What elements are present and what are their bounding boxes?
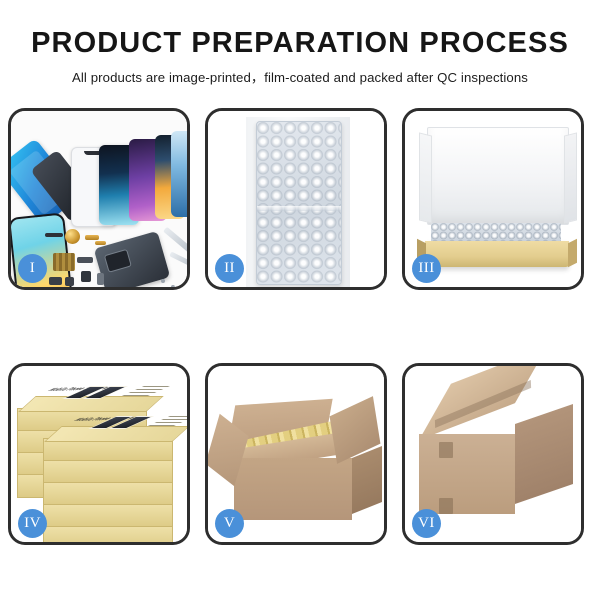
page-title: PRODUCT PREPARATION PROCESS — [0, 28, 600, 58]
box-top-face: Mobile Phone Spare Parts — [18, 396, 164, 412]
carton-side-icon — [515, 404, 573, 504]
product-box — [43, 526, 173, 542]
small-part-icon — [65, 277, 74, 286]
screw-icon — [161, 279, 165, 283]
bubble-wrap-icon — [256, 121, 342, 285]
process-step-4: Mobile Phone Spare Parts Mobile Phone Sp… — [8, 363, 190, 545]
speaker-coin-icon — [65, 229, 80, 244]
carton-front-icon — [419, 434, 515, 514]
circuit-board-icon — [53, 253, 75, 271]
box-stack: Mobile Phone Spare Parts Mobile Phone Sp… — [17, 382, 187, 532]
process-step-5: V — [205, 363, 387, 545]
step-badge-4: IV — [18, 509, 47, 538]
carton-tab-icon — [439, 498, 453, 514]
page-subtitle: All products are image-printed，film-coat… — [0, 67, 600, 86]
carton-side-icon — [352, 446, 382, 514]
sim-tray-icon — [97, 273, 104, 285]
product-box — [43, 460, 173, 484]
step-badge-2: II — [215, 254, 244, 283]
tweezers-icon — [169, 252, 187, 268]
process-step-2: II — [205, 108, 387, 290]
header: PRODUCT PREPARATION PROCESS All products… — [0, 0, 600, 86]
phone-housing-icon — [94, 231, 171, 287]
infographic-page: PRODUCT PREPARATION PROCESS All products… — [0, 0, 600, 600]
gold-connector-icon — [85, 235, 99, 240]
product-box — [43, 504, 173, 528]
ribbon-cable-icon — [45, 233, 63, 237]
step-badge-6: VI — [412, 509, 441, 538]
product-box: Mobile Phone Spare Parts — [43, 438, 173, 462]
carton-front-icon — [234, 458, 352, 520]
process-step-6: VI — [402, 363, 584, 545]
flex-cable-icon — [77, 257, 93, 263]
step-badge-1: I — [18, 254, 47, 283]
screwdriver-icon — [163, 227, 187, 253]
teal-display-icon — [171, 131, 187, 217]
kraft-tray-icon — [425, 241, 569, 267]
process-step-grid: I II III Mobi — [8, 108, 592, 545]
gold-connector-icon — [95, 241, 106, 245]
process-step-1: I — [8, 108, 190, 290]
camera-module-icon — [81, 271, 91, 282]
process-step-3: III — [402, 108, 584, 290]
box-text-lines — [120, 386, 170, 397]
box-lid-icon — [427, 127, 569, 225]
step-badge-3: III — [412, 254, 441, 283]
box-text-lines — [146, 416, 187, 427]
step-badge-5: V — [215, 509, 244, 538]
box-top-face: Mobile Phone Spare Parts — [44, 426, 187, 442]
small-part-icon — [49, 277, 62, 285]
product-box — [43, 482, 173, 506]
screw-icon — [171, 285, 175, 287]
carton-tab-icon — [439, 442, 453, 458]
